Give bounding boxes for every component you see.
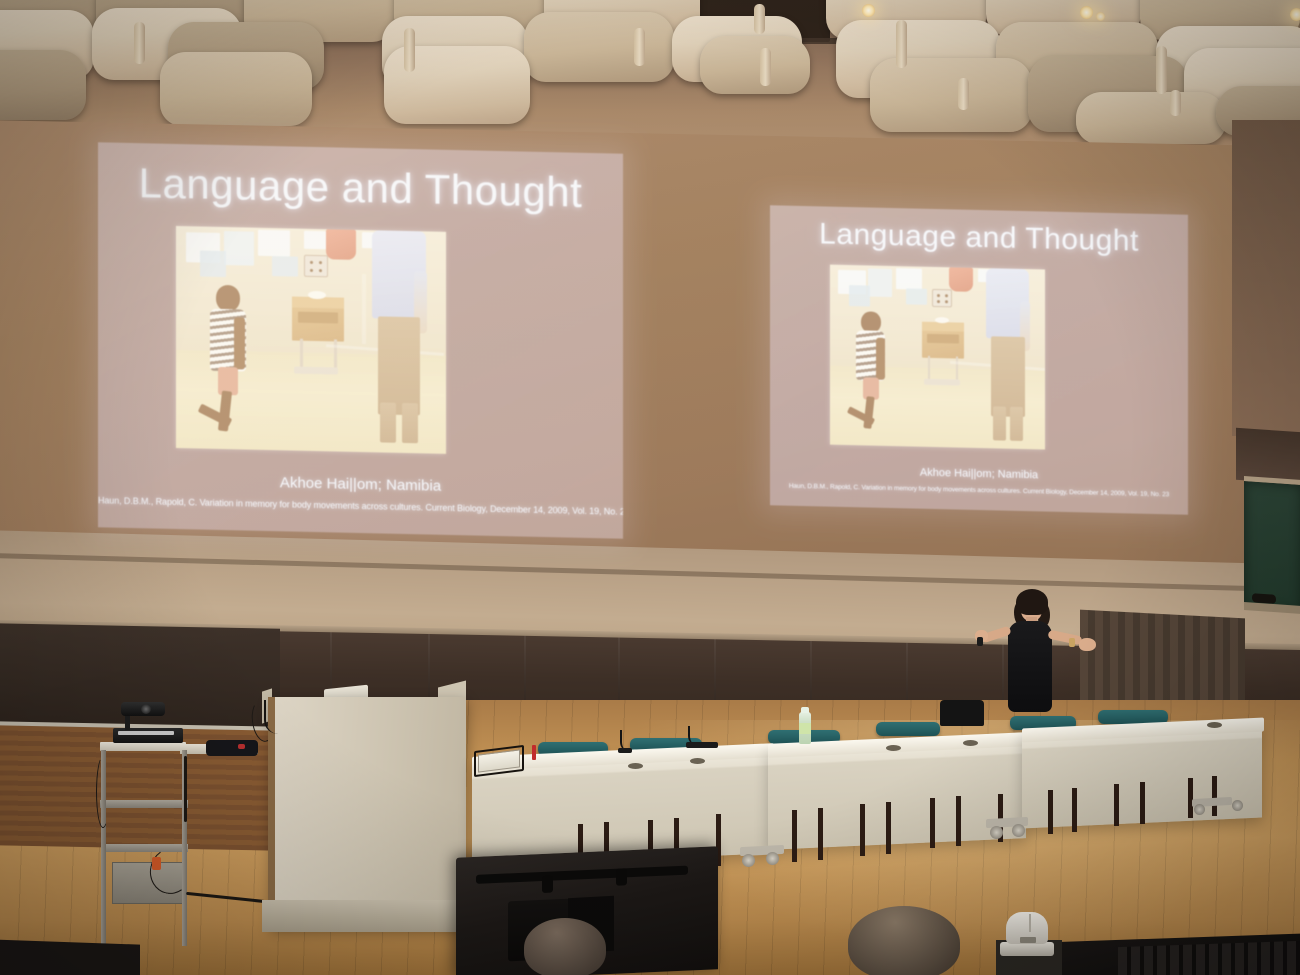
caster-wheel [1012,824,1025,837]
slide-title: Language and Thought [98,158,623,217]
slide-photo [830,265,1045,450]
photo-table [922,322,964,359]
lecture-hall-scene: Language and Thought [0,0,1300,975]
caster-wheel [742,854,755,867]
photo-figure-child-arm [234,317,245,369]
cable-grommet [886,745,901,751]
photo-figure-adult-leg [993,406,1006,440]
photo-table-base [924,379,960,386]
photo-wall-socket [932,289,952,307]
cable-grommet [628,763,643,769]
audience-member-head [848,906,960,975]
baffle-rod [760,48,771,86]
power-cable [184,756,187,822]
photo-wall-socket [304,255,328,278]
table-leg [1188,778,1193,818]
presenter-body [1008,621,1052,712]
av-equipment[interactable] [206,740,258,756]
slide-caption-primary: Akhoe Hai||om; Namibia [98,470,623,498]
photo-red-cloth [949,267,973,292]
photo-paper [906,288,927,304]
caster-wheel [1194,804,1205,815]
projected-slide-secondary: Language and Thought [770,205,1188,514]
photo-paper [272,256,298,277]
photo-paper [258,230,290,257]
ceiling-baffle [0,50,86,120]
power-cable [96,756,110,828]
slide-caption-primary: Akhoe Hai||om; Namibia [770,463,1188,484]
ceiling-downlight [1080,6,1093,19]
cable-grommet [963,740,978,746]
marker-pen[interactable] [532,745,536,760]
baffle-rod [896,20,907,68]
baffle-rod [958,78,969,110]
av-cart-top [100,742,186,751]
ceiling-downlight [1096,12,1105,21]
chair[interactable] [876,722,940,736]
photo-figure-child-head [216,285,240,312]
photo-table [292,297,344,342]
gooseneck-microphone-icon[interactable] [264,700,280,734]
caster-wheel [766,852,779,865]
photo-bowl [308,291,326,299]
right-wall-band [1232,120,1300,436]
photo-paper [304,231,326,249]
camera-base [1000,942,1054,956]
monitor-clip [616,868,627,885]
photo-figure-adult-legs [378,316,420,415]
cable-grommet [690,758,705,764]
microphone-base [686,742,718,748]
av-cart-shelf [100,800,188,808]
camera-lens-icon [141,704,151,714]
photo-wall-edge [362,274,366,344]
table-leg [860,804,865,856]
photo-bowl [935,317,949,323]
left-wall-panel [0,623,280,733]
ceiling-baffle [1076,92,1226,144]
ceiling-downlight [862,4,875,17]
table-leg [886,802,891,854]
baffle-rod [1170,90,1181,116]
photo-paper [224,231,254,266]
table-leg [930,798,935,848]
presenter-right-hand [1079,638,1096,651]
ceiling-downlight [1290,8,1300,21]
wristwatch [1069,638,1075,647]
camera-seam [1029,914,1031,932]
presenter-hair [1016,589,1048,615]
slide-caption-citation: Haun, D.B.M., Rapold, C. Variation in me… [770,482,1188,498]
monitor-mount-bar [476,866,688,884]
foreground-desk-left [0,939,140,975]
ceiling-baffle [160,52,312,126]
ceiling-baffle [700,36,810,94]
baffle-rod [634,28,645,66]
table-leg [956,796,961,846]
foreground-desk-slats [1118,941,1300,975]
slide-title: Language and Thought [770,216,1188,259]
photo-table-leg [956,356,958,380]
photo-paper [868,268,892,297]
camera-label [1020,937,1036,943]
table-leg [792,810,797,862]
bottle-cap [801,707,809,713]
baffle-rod [1156,46,1167,94]
photo-paper [849,285,870,306]
cable-grommet [1207,722,1222,728]
baffle-rod [754,4,765,34]
table-leg [1114,784,1119,826]
chair[interactable] [940,700,984,726]
baffle-rod [134,22,145,64]
document-camera-panel [118,731,174,735]
monitor-clip [542,875,553,892]
photo-figure-adult-legs [991,336,1025,417]
photo-paper [896,268,922,290]
podium[interactable] [268,697,466,929]
slide-photo [176,226,446,454]
table-leg [1140,782,1145,824]
bottle-label [799,723,811,734]
ceiling-baffle [870,58,1032,132]
audience-member-head [524,918,606,975]
table-leg [1048,790,1053,834]
ceiling-baffle [524,12,674,82]
caster-wheel [990,826,1003,839]
power-plug[interactable] [152,857,161,870]
caster-wheel [1232,800,1243,811]
projected-slide-main: Language and Thought [98,142,623,538]
baffle-rod [404,28,415,72]
photo-red-cloth [326,229,356,260]
photo-figure-adult-leg [380,402,396,442]
photo-figure-child-arm [876,338,885,380]
photo-table-base [294,367,338,375]
presentation-clicker[interactable] [977,637,983,646]
status-indicator [238,744,245,749]
photo-paper [200,250,226,277]
table-leg [1072,788,1077,832]
photo-figure-adult-leg [1010,407,1023,441]
podium-base [262,900,472,932]
photo-figure-adult-leg [402,403,418,443]
chalkboard [1244,476,1300,612]
microphone-base [618,748,632,753]
table-leg [1212,776,1217,816]
table-leg [818,808,823,860]
slide-caption-citation: Haun, D.B.M., Rapold, C. Variation in me… [98,495,623,516]
